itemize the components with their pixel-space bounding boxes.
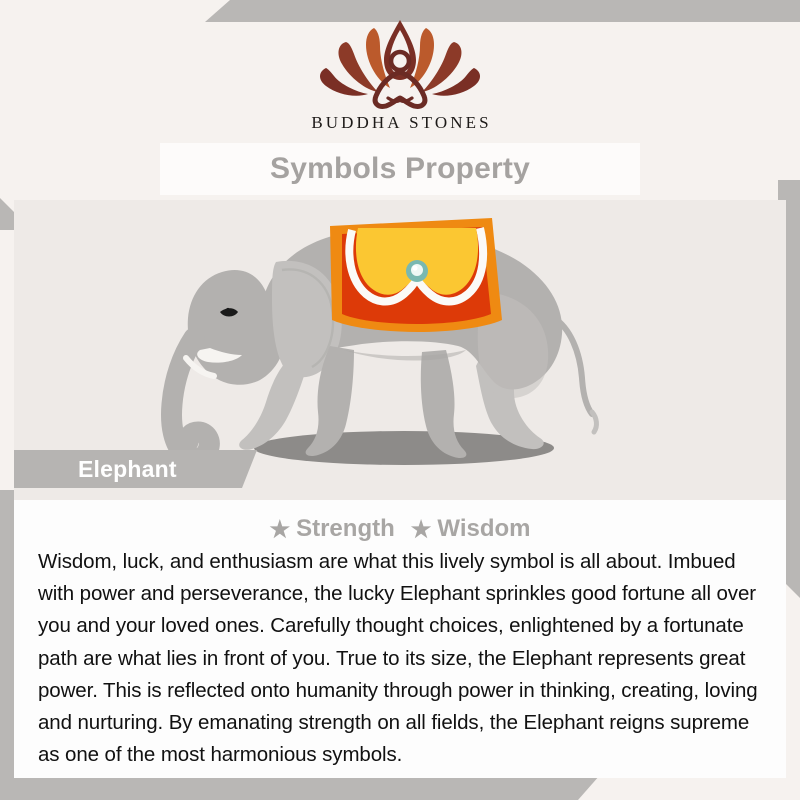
- attribute-list: ★ Strength ★ Wisdom: [14, 500, 786, 546]
- brand-logo: BUDDHA STONES: [300, 18, 500, 133]
- attribute-label: Wisdom: [437, 515, 530, 543]
- symbols-property-card: BUDDHA STONES Symbols Property: [0, 0, 800, 800]
- attribute-wisdom: ★ Wisdom: [411, 515, 531, 543]
- star-icon: ★: [269, 518, 290, 541]
- description-panel: ★ Strength ★ Wisdom Wisdom, luck, and en…: [14, 500, 786, 778]
- brand-name: BUDDHA STONES: [300, 113, 500, 133]
- attribute-label: Strength: [296, 515, 395, 543]
- symbol-description: Wisdom, luck, and enthusiasm are what th…: [14, 546, 786, 771]
- attribute-strength: ★ Strength: [269, 515, 394, 543]
- brand-header: BUDDHA STONES: [0, 0, 800, 143]
- star-icon: ★: [411, 518, 432, 541]
- page-title-banner: Symbols Property: [160, 143, 640, 195]
- elephant-blanket: [330, 218, 502, 332]
- lotus-meditation-icon: [316, 18, 484, 110]
- decor-band-bottom: [0, 775, 800, 800]
- page-title: Symbols Property: [270, 152, 530, 186]
- decor-band-left: [0, 490, 14, 778]
- symbol-name: Elephant: [78, 456, 177, 483]
- symbol-name-tag: Elephant: [14, 450, 257, 488]
